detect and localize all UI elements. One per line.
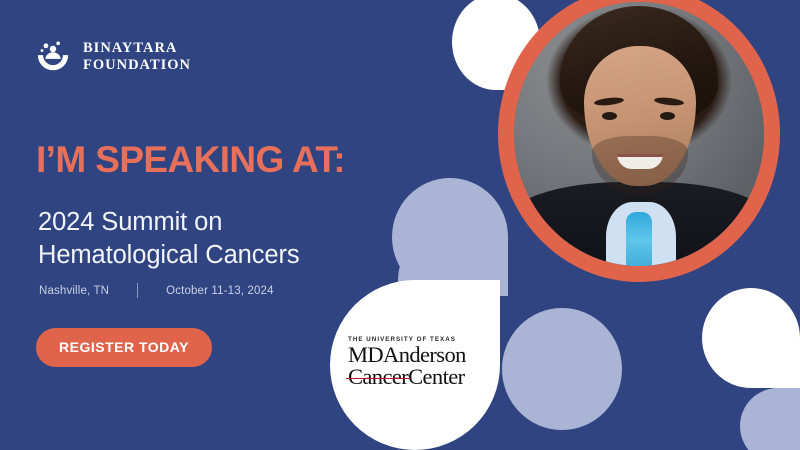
event-dates: October 11-13, 2024: [166, 285, 273, 297]
light-blue-teardrop-bottom-right-decoration: [740, 388, 800, 450]
white-teardrop-bottom-right-decoration: [702, 288, 800, 388]
event-location: Nashville, TN: [39, 285, 109, 297]
md-anderson-name-line: MDAnderson: [348, 344, 482, 366]
binaytara-bowl-and-dots-icon: [34, 38, 72, 76]
speaking-headline: I’M SPEAKING AT:: [36, 141, 345, 178]
brand-name-line2: FOUNDATION: [83, 57, 191, 73]
eye-left-shape: [602, 112, 617, 120]
meta-separator: [137, 283, 138, 298]
brand-name-line1: BINAYTARA: [83, 40, 177, 56]
md-anderson-cancer-struck: Cancer: [348, 366, 408, 389]
event-meta: Nashville, TN October 11-13, 2024: [39, 283, 274, 298]
event-title: 2024 Summit on Hematological Cancers: [38, 206, 368, 272]
md-anderson-cancer-center-line: CancerCenter: [348, 366, 482, 389]
binaytara-foundation-logo[interactable]: BINAYTARA FOUNDATION: [34, 38, 191, 76]
necktie-shape: [626, 212, 652, 266]
light-blue-circle-bottom-decoration: [502, 308, 622, 430]
promo-banner: BINAYTARA FOUNDATION I’M SPEAKING AT: 20…: [0, 0, 800, 450]
binaytara-foundation-wordmark: BINAYTARA FOUNDATION: [83, 40, 191, 74]
event-title-line2: Hematological Cancers: [38, 241, 300, 269]
speaker-portrait: [514, 2, 764, 266]
light-blue-teardrop-middle-decoration: [392, 178, 508, 296]
event-title-line1: 2024 Summit on: [38, 208, 222, 236]
speaker-headshot-image: [514, 2, 764, 266]
md-anderson-center-word: Center: [408, 364, 464, 389]
md-anderson-cancer-center-logo: THE UNIVERSITY OF TEXAS MDAnderson Cance…: [348, 336, 482, 388]
speaker-portrait-ring: [498, 0, 780, 282]
register-today-button[interactable]: REGISTER TODAY: [36, 328, 212, 367]
eye-right-shape: [660, 112, 675, 120]
